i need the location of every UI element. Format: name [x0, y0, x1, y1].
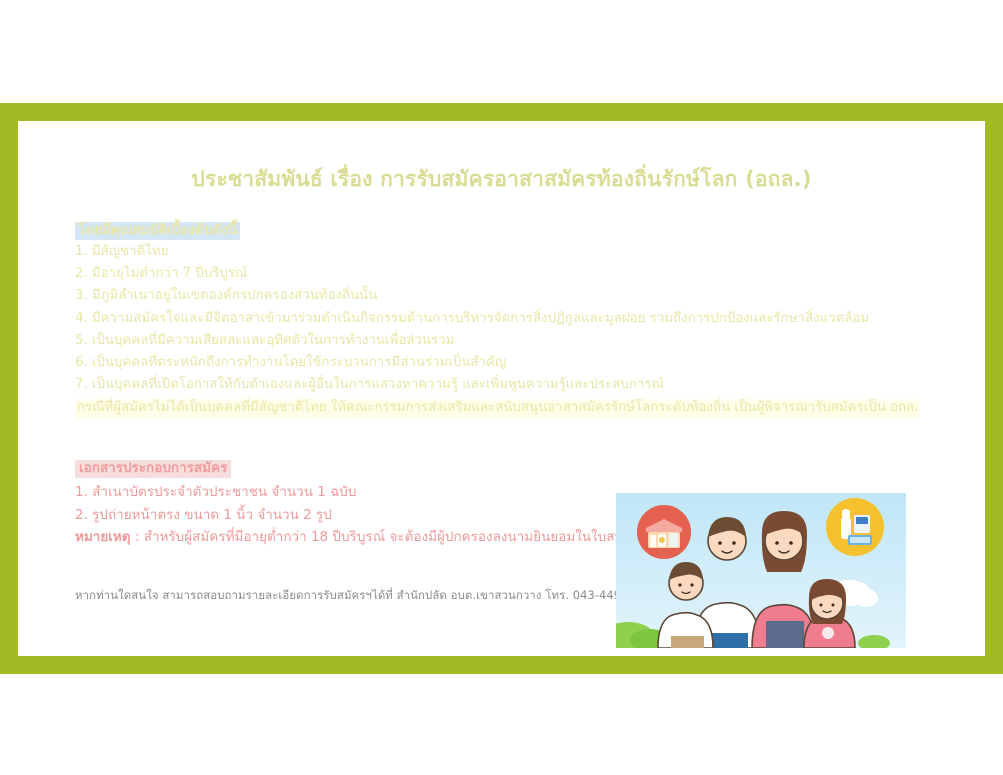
qualifications-heading-row: โดยมีคุณสมบัติเบื้องต้นดังนี้: [75, 219, 240, 240]
documents-heading: เอกสารประกอบการสมัคร: [75, 460, 231, 478]
list-item: 1. สำเนาบัตรประจำตัวประชาชน จำนวน 1 ฉบับ: [75, 481, 664, 504]
list-item: 1. มีสัญชาติไทย: [75, 241, 920, 263]
poster-content-area: ประชาสัมพันธ์ เรื่อง การรับสมัครอาสาสมัค…: [18, 121, 985, 656]
qualifications-heading: โดยมีคุณสมบัติเบื้องต้นดังนี้: [75, 222, 240, 240]
illustration-svg: [616, 493, 906, 648]
documents-list-block: 1. สำเนาบัตรประจำตัวประชาชน จำนวน 1 ฉบับ…: [75, 481, 664, 549]
list-item: 7. เป็นบุคคลที่เปิดโอกาสให้กับตัวเองและผ…: [75, 374, 920, 396]
qualifications-list-block: 1. มีสัญชาติไทย 2. มีอายุไม่ต่ำกว่า 7 ปี…: [75, 241, 920, 420]
documents-heading-row: เอกสารประกอบการสมัคร: [75, 457, 231, 478]
documents-note-text: : สำหรับผู้สมัครที่มีอายุต่ำกว่า 18 ปีบร…: [131, 529, 664, 545]
list-item: 2. มีอายุไม่ต่ำกว่า 7 ปีบริบูรณ์: [75, 263, 920, 285]
list-item: 6. เป็นบุคคลที่ตระหนักถึงการทำงานโดยใช้ก…: [75, 352, 920, 374]
footer-contact-text: หากท่านใดสนใจ สามารถสอบถามรายละเอียดการร…: [75, 587, 643, 605]
poster-green-frame: ประชาสัมพันธ์ เรื่อง การรับสมัครอาสาสมัค…: [0, 103, 1003, 674]
list-item: 3. มีภูมิลำเนาอยู่ในเขตองค์กรปกครองส่วนท…: [75, 285, 920, 307]
list-item: 4. มีความสมัครใจและมีจิตอาสาเข้ามาร่วมดำ…: [75, 308, 920, 330]
documents-note: หมายเหตุ : สำหรับผู้สมัครที่มีอายุต่ำกว่…: [75, 526, 664, 549]
list-item: 5. เป็นบุคคลที่มีความเสียสละและอุทิศตัวใ…: [75, 330, 920, 352]
family-waste-sorting-illustration: [616, 493, 906, 648]
waste-bin-bubble-icon: [637, 505, 691, 559]
recycling-items-bubble-icon: [826, 498, 884, 556]
qualifications-note: กรณีที่ผู้สมัครไม่ได้เป็นบุคคลที่มีสัญชา…: [75, 397, 920, 419]
page-title: ประชาสัมพันธ์ เรื่อง การรับสมัครอาสาสมัค…: [18, 163, 985, 196]
qualifications-list: 1. มีสัญชาติไทย 2. มีอายุไม่ต่ำกว่า 7 ปี…: [75, 241, 920, 396]
list-item: 2. รูปถ่ายหน้าตรง ขนาด 1 นิ้ว จำนวน 2 รู…: [75, 504, 664, 527]
documents-note-label: หมายเหตุ: [75, 529, 131, 545]
